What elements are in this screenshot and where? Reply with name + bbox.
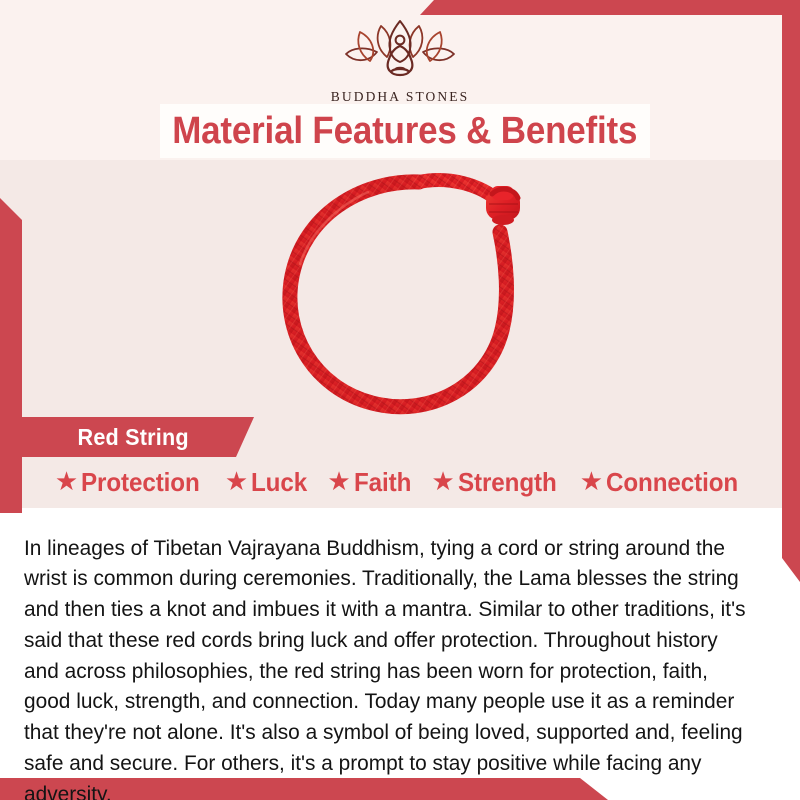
benefit-item-protection: ★ Protection [46,469,215,495]
benefit-label-luck: Luck [251,469,307,495]
benefit-item-luck: ★ Luck [216,469,318,495]
star-icon: ★ [431,468,454,494]
decoration-top-bar [420,0,800,15]
benefit-item-faith: ★ Faith [318,469,421,495]
benefit-label-strength: Strength [458,469,557,495]
benefits-list: ★ Protection ★ Luck ★ Faith ★ Strength ★… [0,463,800,501]
brand-name: BUDDHA STONES [331,89,469,105]
red-string-bracelet-icon [248,160,568,430]
star-icon: ★ [225,468,248,494]
benefit-label-connection: Connection [606,469,738,495]
benefit-item-connection: ★ Connection [571,469,754,495]
product-description: In lineages of Tibetan Vajrayana Buddhis… [24,533,753,800]
star-icon: ★ [327,468,350,494]
product-name-banner: Red String [22,417,254,457]
product-name-text: Red String [78,424,189,451]
star-icon: ★ [55,468,78,494]
lotus-meditation-icon [325,18,475,86]
star-icon: ★ [580,468,603,494]
page-title: Material Features & Benefits [160,104,650,158]
product-image [0,160,800,430]
benefit-item-strength: ★ Strength [422,469,569,495]
benefit-label-protection: Protection [81,469,200,495]
benefit-label-faith: Faith [354,469,411,495]
page-title-text: Material Features & Benefits [172,112,637,150]
brand-logo: BUDDHA STONES [0,18,800,105]
product-infographic: BUDDHA STONES Material Features & Benefi… [0,0,800,800]
